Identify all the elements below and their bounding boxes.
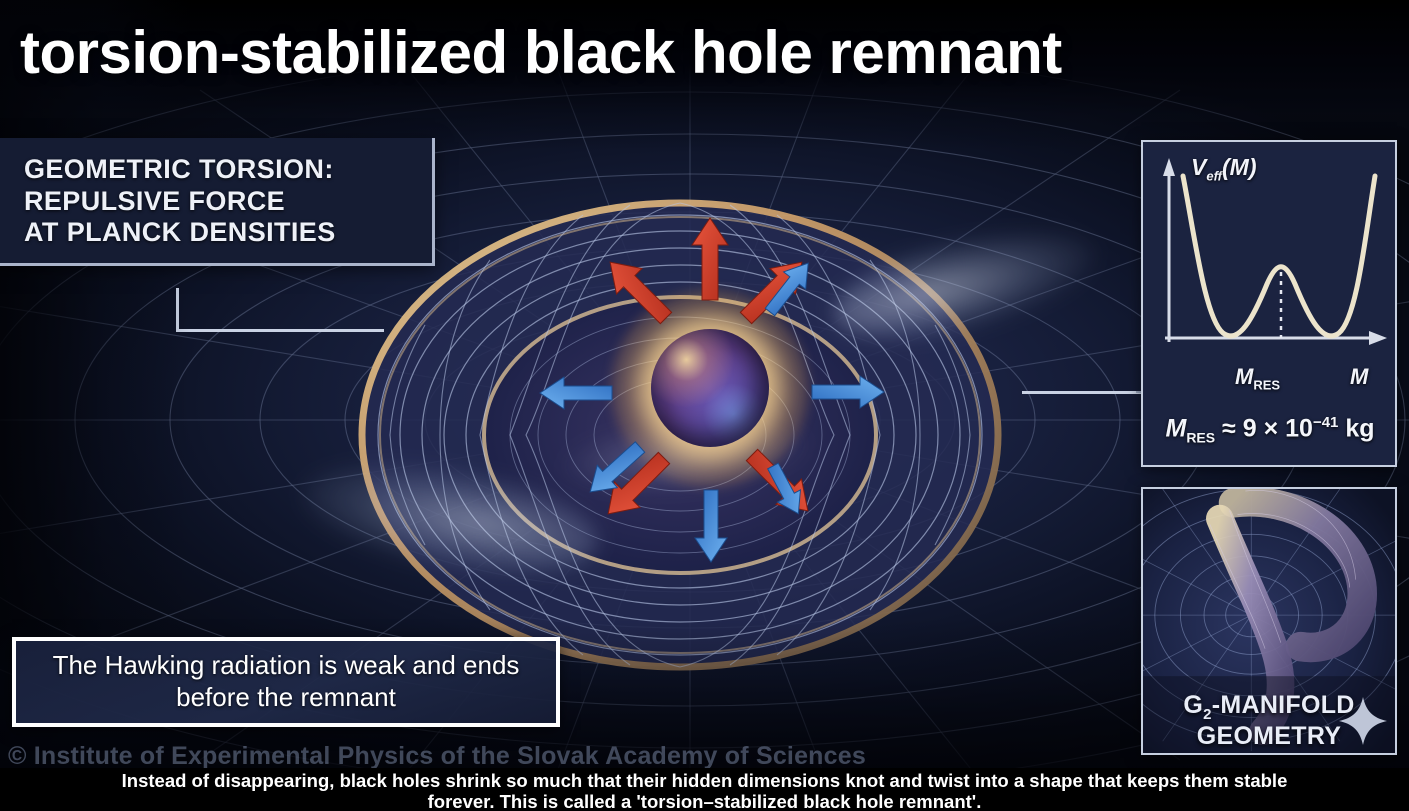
callout-line-3: AT PLANCK DENSITIES xyxy=(24,217,414,249)
bottom-caption: Instead of disappearing, black holes shr… xyxy=(0,768,1409,811)
screenshot-root: torsion-stabilized black hole remnant GE… xyxy=(0,0,1409,811)
g2-label-line-2: GEOMETRY xyxy=(1197,722,1342,750)
chart-tick-mres: MRES xyxy=(1235,364,1280,392)
mres-formula: MRES ≈ 9 × 10−41 kg xyxy=(1151,414,1389,445)
hawking-radiation-caption-box: The Hawking radiation is weak and ends b… xyxy=(12,637,560,727)
g2-manifold-panel: G2-MANIFOLD GEOMETRY xyxy=(1141,487,1397,755)
main-illustration: torsion-stabilized black hole remnant GE… xyxy=(0,0,1409,768)
hawking-radiation-caption-text: The Hawking radiation is weak and ends b… xyxy=(16,650,556,713)
callout-line-2: REPULSIVE FORCE xyxy=(24,186,414,218)
blue-arrow-group xyxy=(540,255,884,562)
callout-line-1: GEOMETRIC TORSION: xyxy=(24,154,414,186)
watermark-credit: © Institute of Experimental Physics of t… xyxy=(8,742,866,768)
bottom-caption-line-1: Instead of disappearing, black holes shr… xyxy=(0,770,1409,791)
chart-connector-horizontal xyxy=(1022,391,1144,394)
effective-potential-chart xyxy=(1143,142,1395,400)
geometric-torsion-callout: GEOMETRIC TORSION: REPULSIVE FORCE AT PL… xyxy=(0,138,435,266)
effective-potential-panel: Veff(M) MRES M MRES ≈ 9 × 10−41 kg xyxy=(1141,140,1397,467)
chart-y-axis-label: Veff(M) xyxy=(1191,154,1256,184)
bottom-caption-line-2: forever. This is called a 'torsion–stabi… xyxy=(0,791,1409,811)
page-title: torsion-stabilized black hole remnant xyxy=(20,23,1400,83)
sparkle-icon xyxy=(1337,695,1389,747)
chart-x-axis-label: M xyxy=(1350,364,1368,390)
g2-label-line-1: G2-MANIFOLD xyxy=(1183,691,1354,719)
callout-connector-horizontal xyxy=(176,329,384,332)
